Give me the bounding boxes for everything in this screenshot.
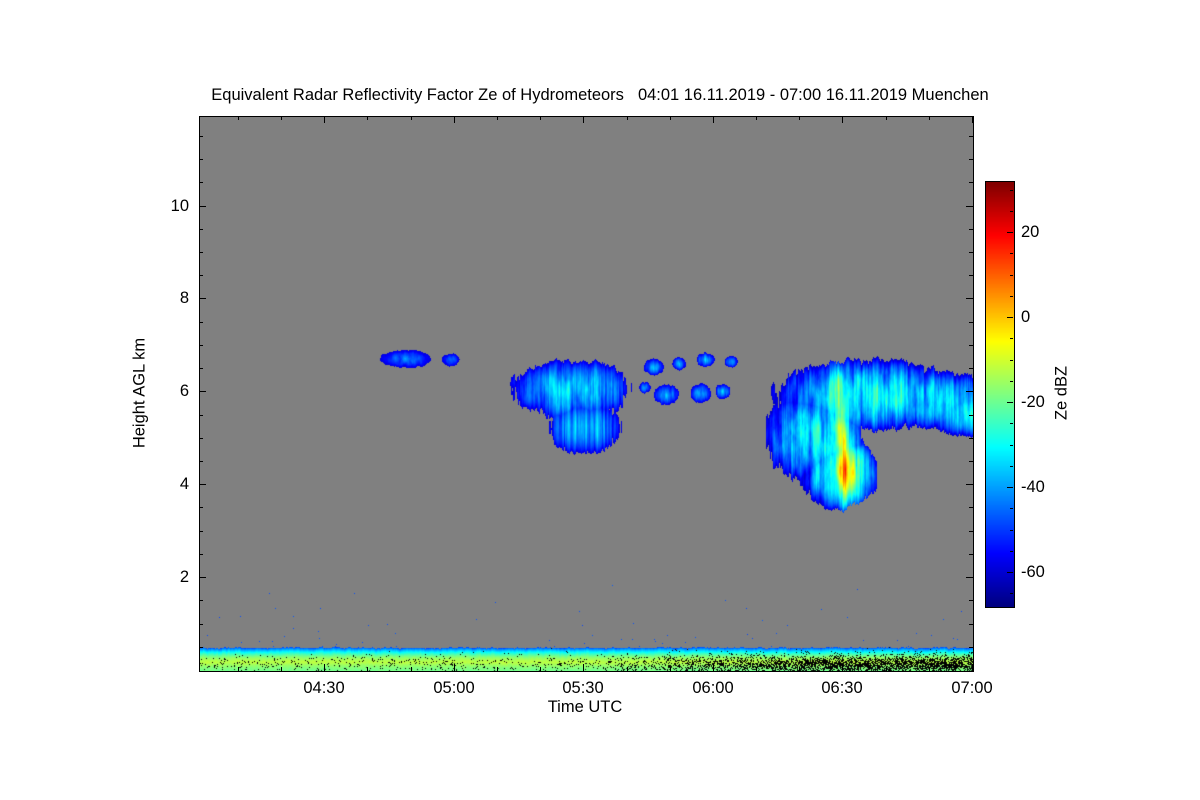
colorbar: [985, 181, 1015, 608]
chart-title-station: Muenchen: [912, 86, 989, 104]
x-tick-major-top: [324, 116, 325, 123]
y-tick-minor-right: [969, 600, 973, 601]
y-tick-minor: [199, 368, 203, 369]
chart-title: Equivalent Radar Reflectivity Factor Ze …: [0, 86, 1200, 105]
colorbar-tick-minor: [1010, 253, 1013, 254]
x-tick-major-top: [454, 116, 455, 123]
y-tick-major-right: [966, 298, 973, 299]
y-tick-major: [199, 206, 206, 207]
y-tick-minor-right: [969, 275, 973, 276]
y-tick-minor: [199, 345, 203, 346]
y-tick-minor-right: [969, 136, 973, 137]
y-tick-minor: [199, 415, 203, 416]
y-tick-minor-right: [969, 415, 973, 416]
chart-title-main: Equivalent Radar Reflectivity Factor Ze …: [211, 86, 624, 104]
x-tick-minor: [411, 667, 412, 671]
y-tick-minor-right: [969, 624, 973, 625]
y-tick-major: [199, 577, 206, 578]
x-tick-major-top: [972, 116, 973, 123]
y-tick-minor: [199, 461, 203, 462]
colorbar-tick-major: [1007, 317, 1013, 318]
x-tick-minor: [886, 667, 887, 671]
colorbar-tick-minor: [1010, 445, 1013, 446]
y-tick-minor: [199, 507, 203, 508]
colorbar-tick-major: [1007, 232, 1013, 233]
y-axis-label: Height AGL km: [131, 338, 150, 448]
y-tick-minor-right: [969, 229, 973, 230]
x-tick-minor: [497, 667, 498, 671]
colorbar-tick-minor: [1010, 275, 1013, 276]
y-tick-minor: [199, 252, 203, 253]
x-tick-minor-top: [411, 116, 412, 120]
y-tick-minor: [199, 531, 203, 532]
x-tick-label: 05:30: [538, 680, 628, 697]
x-tick-minor-top: [367, 116, 368, 120]
y-tick-label: 10: [149, 198, 189, 215]
y-tick-label: 6: [149, 383, 189, 400]
x-tick-minor: [238, 667, 239, 671]
y-tick-minor: [199, 159, 203, 160]
y-tick-minor-right: [969, 368, 973, 369]
x-tick-label: 07:00: [927, 680, 1017, 697]
y-tick-minor-right: [969, 507, 973, 508]
y-tick-major-right: [966, 206, 973, 207]
y-tick-label: 8: [149, 290, 189, 307]
y-tick-major: [199, 484, 206, 485]
y-tick-major-right: [966, 577, 973, 578]
y-tick-minor-right: [969, 252, 973, 253]
x-tick-major-top: [842, 116, 843, 123]
y-tick-minor: [199, 229, 203, 230]
colorbar-tick-label: -20: [1021, 394, 1045, 411]
y-tick-minor: [199, 647, 203, 648]
x-tick-minor-top: [497, 116, 498, 120]
x-tick-minor-top: [670, 116, 671, 120]
x-tick-label: 06:30: [797, 680, 887, 697]
colorbar-tick-minor: [1010, 530, 1013, 531]
x-tick-minor-top: [929, 116, 930, 120]
colorbar-label: Ze dBZ: [1053, 366, 1072, 420]
x-axis-label: Time UTC: [548, 698, 623, 717]
y-tick-minor: [199, 136, 203, 137]
colorbar-tick-minor: [1010, 211, 1013, 212]
y-tick-minor-right: [969, 322, 973, 323]
y-tick-major: [199, 391, 206, 392]
x-tick-label: 05:00: [409, 680, 499, 697]
y-tick-label: 2: [149, 569, 189, 586]
x-tick-major: [972, 664, 973, 671]
x-tick-minor: [929, 667, 930, 671]
x-tick-minor: [756, 667, 757, 671]
x-tick-minor: [540, 667, 541, 671]
colorbar-tick-label: -40: [1021, 479, 1045, 496]
x-tick-major: [713, 664, 714, 671]
colorbar-tick-minor: [1010, 190, 1013, 191]
colorbar-tick-minor: [1010, 423, 1013, 424]
colorbar-tick-label: 20: [1021, 224, 1039, 241]
colorbar-tick-minor: [1010, 381, 1013, 382]
colorbar-tick-minor: [1010, 508, 1013, 509]
x-tick-minor: [670, 667, 671, 671]
y-tick-major-right: [966, 391, 973, 392]
x-tick-major: [454, 664, 455, 671]
x-tick-major: [583, 664, 584, 671]
colorbar-tick-label: -60: [1021, 564, 1045, 581]
y-tick-minor-right: [969, 182, 973, 183]
x-tick-major-top: [713, 116, 714, 123]
y-tick-major-right: [966, 484, 973, 485]
y-tick-minor-right: [969, 461, 973, 462]
y-tick-minor: [199, 322, 203, 323]
y-tick-minor-right: [969, 159, 973, 160]
chart-title-period: 04:01 16.11.2019 - 07:00 16.11.2019: [638, 86, 907, 104]
y-tick-minor: [199, 182, 203, 183]
colorbar-tick-major: [1007, 572, 1013, 573]
x-tick-minor-top: [886, 116, 887, 120]
y-tick-minor: [199, 624, 203, 625]
colorbar-tick-major: [1007, 487, 1013, 488]
y-tick-minor: [199, 275, 203, 276]
colorbar-tick-minor: [1010, 360, 1013, 361]
x-tick-major: [842, 664, 843, 671]
y-tick-minor-right: [969, 554, 973, 555]
colorbar-tick-minor: [1010, 338, 1013, 339]
reflectivity-heatmap: [200, 117, 973, 671]
radar-reflectivity-figure: Equivalent Radar Reflectivity Factor Ze …: [0, 0, 1200, 800]
x-tick-minor-top: [756, 116, 757, 120]
y-tick-minor: [199, 438, 203, 439]
x-tick-minor-top: [799, 116, 800, 120]
colorbar-tick-minor: [1010, 593, 1013, 594]
y-tick-major: [199, 298, 206, 299]
x-tick-major: [324, 664, 325, 671]
x-tick-minor-top: [238, 116, 239, 120]
colorbar-tick-minor: [1010, 551, 1013, 552]
y-tick-label: 4: [149, 476, 189, 493]
y-tick-minor-right: [969, 647, 973, 648]
colorbar-gradient: [986, 182, 1014, 607]
plot-area: [199, 116, 974, 672]
colorbar-tick-major: [1007, 402, 1013, 403]
y-tick-minor: [199, 554, 203, 555]
y-tick-minor: [199, 600, 203, 601]
x-tick-label: 06:00: [668, 680, 758, 697]
x-tick-major-top: [583, 116, 584, 123]
colorbar-tick-minor: [1010, 466, 1013, 467]
x-tick-minor-top: [281, 116, 282, 120]
y-tick-minor-right: [969, 345, 973, 346]
y-tick-minor-right: [969, 531, 973, 532]
x-tick-minor: [799, 667, 800, 671]
x-tick-label: 04:30: [279, 680, 369, 697]
x-tick-minor: [281, 667, 282, 671]
x-tick-minor: [367, 667, 368, 671]
colorbar-tick-label: 0: [1021, 309, 1030, 326]
y-tick-minor-right: [969, 438, 973, 439]
x-tick-minor-top: [627, 116, 628, 120]
colorbar-tick-minor: [1010, 296, 1013, 297]
x-tick-minor-top: [540, 116, 541, 120]
x-tick-minor: [627, 667, 628, 671]
